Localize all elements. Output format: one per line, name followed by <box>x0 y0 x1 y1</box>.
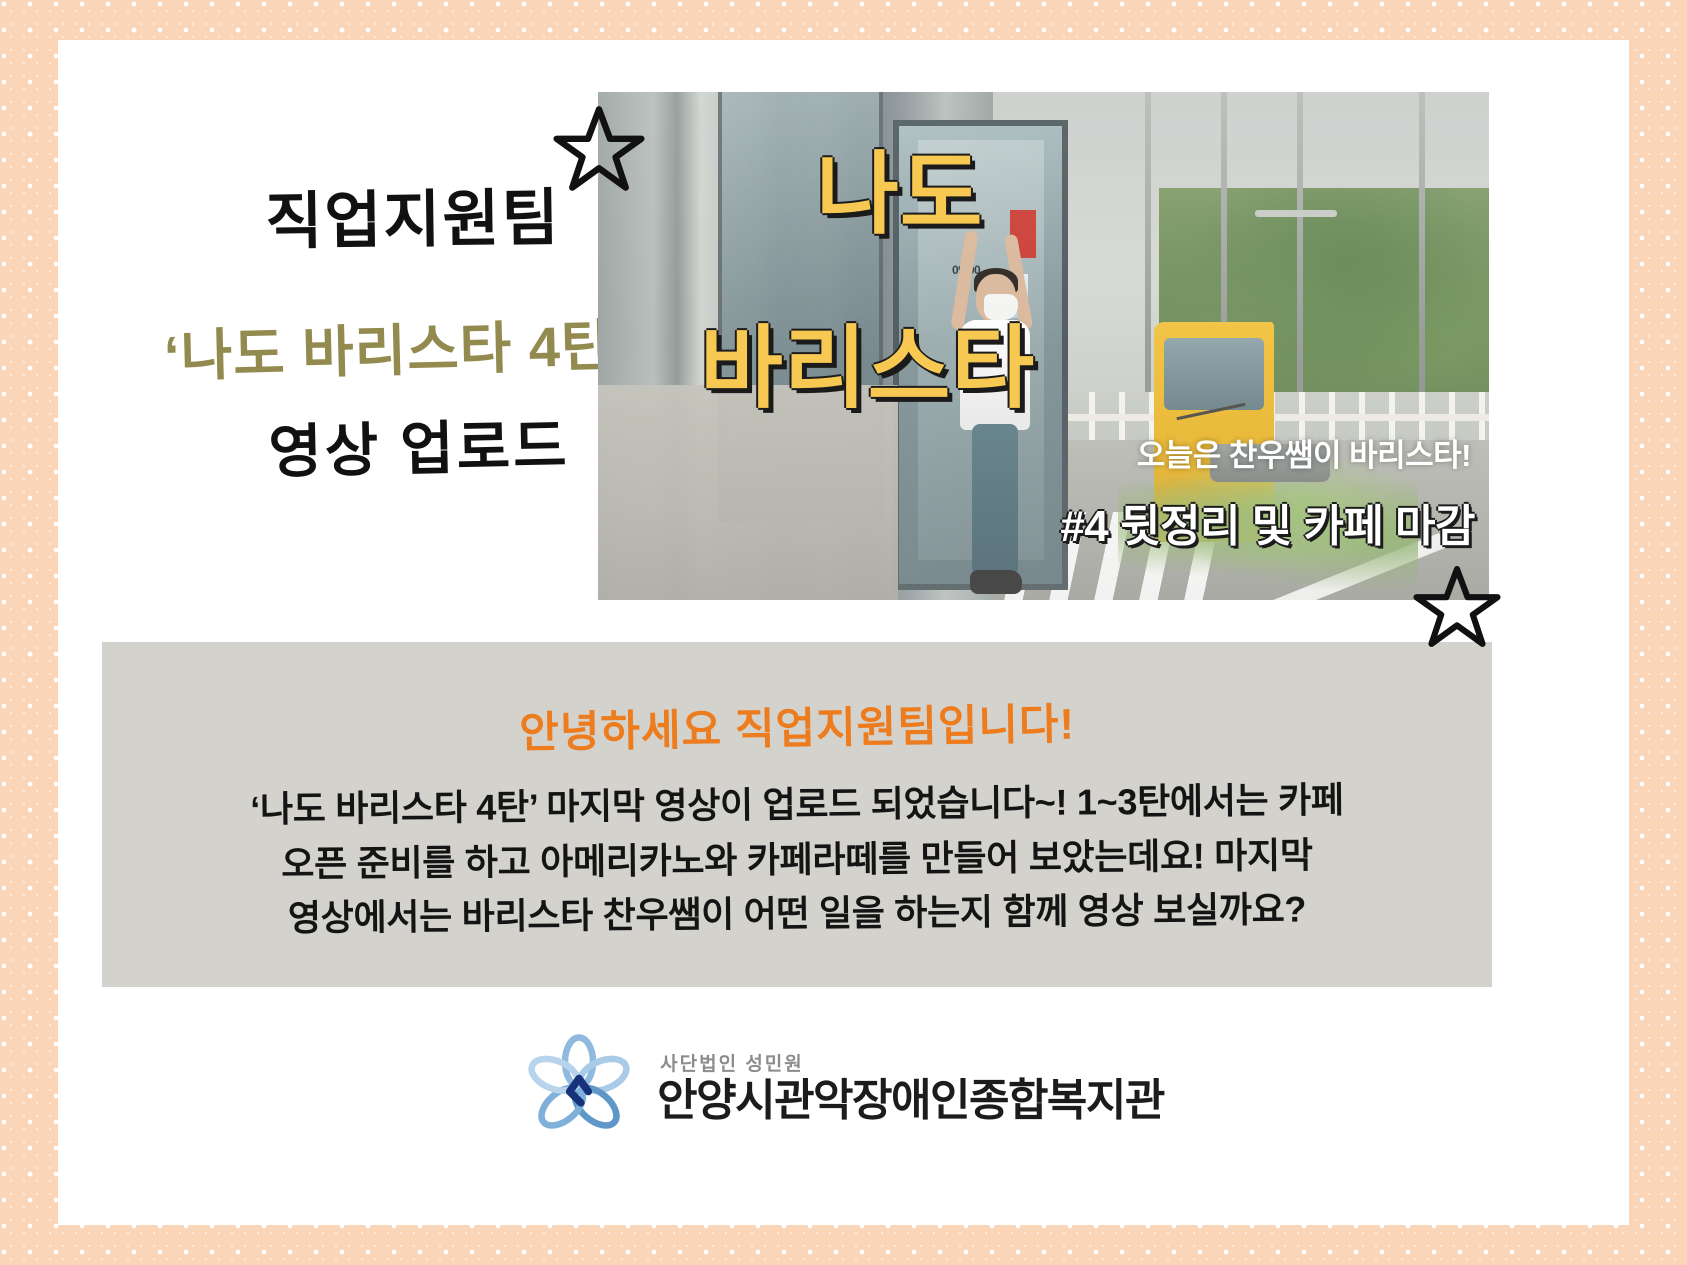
thumbnail-title-line-2: 바리스타 <box>700 324 1035 414</box>
photo-person-shoes <box>970 570 1022 594</box>
star-icon-top-left <box>553 102 645 199</box>
logo-title: 안양시관악장애인종합복지관 <box>657 1079 1164 1123</box>
poster-frame: 직업지원팀 ‘나도 바리스타 4탄’ 영상 업로드 <box>0 0 1687 1265</box>
thumbnail-episode-label: #4 뒷정리 및 카페 마감 <box>1060 490 1475 554</box>
logo-text-block: 사단법인 성민원 안양시관악장애인종합복지관 <box>657 1049 1164 1123</box>
photo-person-pants <box>972 424 1018 574</box>
photo-streetlamp <box>1255 210 1337 217</box>
video-thumbnail[interactable]: 09:00 나도 바리스타 오늘은 찬우쌤이 바리스타! #4 뒷정리 및 카페… <box>598 92 1489 600</box>
description-line-3: 영상에서는 바리스타 찬우쌤이 어떤 일을 하는지 함께 영상 보실까요? <box>126 882 1468 948</box>
description-title: 안녕하세요 직업지원팀입니다! <box>102 683 1493 767</box>
thumbnail-caption: 오늘은 찬우쌤이 바리스타! <box>1137 430 1471 475</box>
description-paragraph: ‘나도 바리스타 4탄’ 마지막 영상이 업로드 되었습니다~! 1~3탄에서는… <box>102 778 1492 942</box>
poster-canvas: 직업지원팀 ‘나도 바리스타 4탄’ 영상 업로드 <box>58 40 1629 1225</box>
photo-bus-window <box>1164 338 1264 410</box>
thumbnail-title-line-1: 나도 <box>816 150 984 240</box>
photo-pole-1 <box>1297 92 1303 422</box>
description-box: 안녕하세요 직업지원팀입니다! ‘나도 바리스타 4탄’ 마지막 영상이 업로드… <box>102 642 1492 987</box>
logo-subtitle: 사단법인 성민원 <box>660 1049 1164 1076</box>
photo-fence-rail <box>1059 414 1489 421</box>
photo-person-mask <box>984 294 1018 320</box>
star-icon-bottom-right <box>1413 562 1501 655</box>
photo-pole-3 <box>1145 92 1151 422</box>
organization-logo: 사단법인 성민원 안양시관악장애인종합복지관 <box>58 1030 1629 1142</box>
photo-pole-4 <box>1419 92 1425 392</box>
flower-logo-icon <box>523 1030 635 1142</box>
